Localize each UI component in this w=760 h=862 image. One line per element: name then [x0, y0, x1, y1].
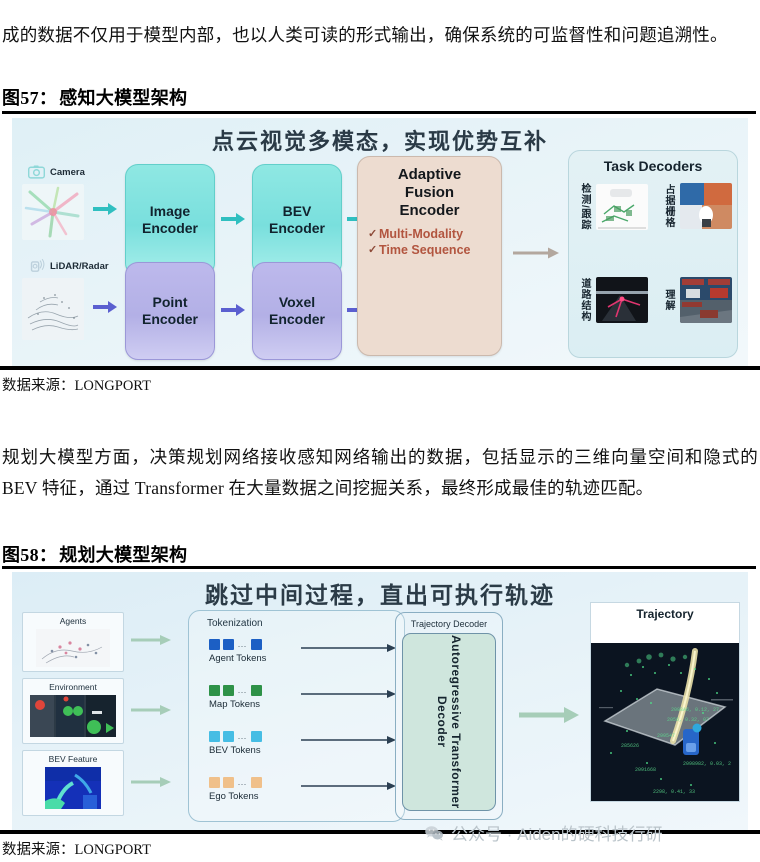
trajectory-pointcloud-image: 2098A6, 0.12, 27 2056, 0.32, 07 299547 2…	[591, 603, 739, 801]
arrow-point-to-voxel-encoder	[220, 303, 246, 317]
fusion-line2: Fusion	[358, 184, 501, 202]
arrow-fusion-to-task-decoders	[512, 246, 560, 260]
svg-text:285626: 285626	[621, 743, 639, 749]
svg-text:2298, 0.41, 33: 2298, 0.41, 33	[653, 789, 695, 795]
input-bev-feature[interactable]: BEV Feature	[22, 750, 124, 816]
arrow-bev-feature-to-tokenization	[130, 776, 172, 788]
encoder-image-line1: Image	[142, 203, 198, 220]
arrow-decoder-to-trajectory	[518, 706, 580, 724]
arrow-agents-to-tokenization	[130, 634, 172, 646]
token-chips-map: ...	[209, 685, 262, 696]
figure58-image: 跳过中间过程，直出可执行轨迹 Agents	[12, 572, 748, 830]
trajectory-decoder-panel: Trajectory Decoder Autoregressive Transf…	[395, 612, 503, 820]
token-chip	[209, 731, 220, 742]
camera-icon	[28, 164, 45, 179]
encoder-bev[interactable]: BEV Encoder	[252, 164, 342, 276]
token-ellipsis-bev: ...	[238, 732, 247, 741]
lidar-thumbnail	[22, 278, 84, 340]
token-ellipsis-map: ...	[238, 686, 247, 695]
fusion-line1: Adaptive	[358, 166, 501, 184]
camera-thumbnail	[22, 184, 84, 240]
token-row-bev[interactable]: ... BEV Tokens	[209, 731, 262, 756]
task-decoders-panel: Task Decoders 检测/跟踪	[568, 150, 738, 358]
task-decoder-thumb-road	[596, 277, 648, 323]
encoder-image-line2: Encoder	[142, 220, 198, 237]
arrow-environment-to-tokenization	[130, 704, 172, 716]
token-chip	[223, 639, 234, 650]
token-row-ego[interactable]: ... Ego Tokens	[209, 777, 262, 802]
figure57-source: 数据来源：LONGPORT	[2, 374, 758, 395]
tokenization-panel: Tokenization ... Agent Tokens ... Map T	[188, 610, 405, 822]
token-chip	[209, 685, 220, 696]
figure58-caption-text: 规划大模型架构	[59, 545, 187, 565]
fusion-bullet-multi-modality: Multi-Modality	[368, 227, 501, 243]
encoder-voxel-line1: Voxel	[269, 294, 325, 311]
token-chip	[223, 685, 234, 696]
figure58-caption: 图58：规划大模型架构	[2, 541, 758, 567]
token-chips-bev: ...	[209, 731, 262, 742]
bev-feature-thumbnail	[45, 767, 101, 814]
token-ellipsis-ego: ...	[238, 778, 247, 787]
trajectory-output-title: Trajectory	[591, 603, 739, 625]
token-chip	[251, 685, 262, 696]
intro-paragraph: 成的数据不仅用于模型内部，也以人类可读的形式输出，确保系统的可监督性和问题追溯性…	[2, 20, 758, 51]
sensor-label-lidar: LiDAR/Radar	[50, 261, 109, 272]
svg-text:299547: 299547	[657, 733, 675, 739]
task-decoder-road-structure[interactable]: 道路结构	[577, 277, 648, 323]
task-decoder-label-road: 道路结构	[577, 278, 592, 322]
trajectory-output-panel[interactable]: Trajectory	[590, 602, 740, 802]
arrow-agent-tokens-to-decoder	[301, 643, 397, 653]
encoder-image[interactable]: Image Encoder	[125, 164, 215, 276]
arrow-map-tokens-to-decoder	[301, 689, 397, 699]
trajectory-decoder-title: Trajectory Decoder	[396, 619, 502, 629]
task-decoder-occupancy-grid[interactable]: 占据栅格	[661, 183, 732, 229]
token-label-agent: Agent Tokens	[209, 653, 266, 664]
token-chips-agent: ...	[209, 639, 266, 650]
token-chip	[251, 777, 262, 788]
arrow-camera-to-image-encoder	[92, 202, 118, 216]
watermark-text: 公众号 · Aiden的硬科技行研	[451, 820, 663, 845]
fusion-line3: Encoder	[358, 202, 501, 220]
input-environment-label: Environment	[23, 682, 123, 692]
token-chip	[223, 777, 234, 788]
svg-text:2091668: 2091668	[635, 767, 656, 773]
adaptive-fusion-encoder[interactable]: Adaptive Fusion Encoder Multi-Modality T…	[357, 156, 502, 356]
task-decoder-label-detection: 检测/跟踪	[577, 183, 592, 231]
tokenization-title: Tokenization	[207, 618, 263, 629]
token-chip	[209, 639, 220, 650]
token-chip	[251, 639, 262, 650]
autoregressive-decoder-label: Autoregressive Transformer Decoder	[435, 634, 463, 810]
token-label-bev: BEV Tokens	[209, 745, 262, 756]
svg-text:2098982, 0.03, 2: 2098982, 0.03, 2	[683, 761, 731, 767]
task-decoder-thumb-occupancy	[680, 183, 732, 229]
task-decoder-label-occupancy: 占据栅格	[661, 184, 676, 228]
figure57-caption-rule	[2, 111, 756, 114]
token-label-ego: Ego Tokens	[209, 791, 262, 802]
figure57-caption-number: 图57：	[2, 88, 57, 108]
figure57-caption-text: 感知大模型架构	[59, 88, 187, 108]
svg-text:2098A6, 0.12, 27: 2098A6, 0.12, 27	[671, 707, 719, 713]
input-environment[interactable]: Environment	[22, 678, 124, 744]
agents-thumbnail	[36, 629, 110, 672]
task-decoder-thumb-understanding	[680, 277, 732, 323]
encoder-point-line1: Point	[142, 294, 198, 311]
task-decoder-thumb-detection	[596, 184, 648, 230]
figure57-image: 点云视觉多模态，实现优势互补 Camera	[12, 118, 748, 366]
arrow-image-to-bev-encoder	[220, 212, 246, 226]
figure57-caption: 图57：感知大模型架构	[2, 84, 758, 110]
environment-thumbnail	[30, 695, 116, 742]
input-bev-feature-label: BEV Feature	[23, 754, 123, 764]
token-row-agent[interactable]: ... Agent Tokens	[209, 639, 266, 664]
token-chip	[251, 731, 262, 742]
arrow-bev-tokens-to-decoder	[301, 735, 397, 745]
input-agents-label: Agents	[23, 616, 123, 626]
arrow-ego-tokens-to-decoder	[301, 781, 397, 791]
task-decoder-detection-tracking[interactable]: 检测/跟踪	[577, 183, 648, 231]
figure58-caption-rule	[2, 566, 756, 569]
token-row-map[interactable]: ... Map Tokens	[209, 685, 262, 710]
token-ellipsis-agent: ...	[238, 640, 247, 649]
wechat-icon	[424, 825, 444, 841]
input-agents[interactable]: Agents	[22, 612, 124, 672]
sensor-label-camera: Camera	[50, 167, 85, 178]
task-decoders-title: Task Decoders	[569, 158, 737, 174]
token-chip	[209, 777, 220, 788]
token-label-map: Map Tokens	[209, 699, 262, 710]
encoder-bev-line1: BEV	[269, 203, 325, 220]
encoder-point[interactable]: Point Encoder	[125, 262, 215, 360]
figure57-bottom-rule	[0, 366, 760, 370]
task-decoder-label-understanding: 理解	[661, 289, 676, 311]
token-chip	[223, 731, 234, 742]
autoregressive-transformer-decoder[interactable]: Autoregressive Transformer Decoder	[402, 633, 496, 811]
token-chips-ego: ...	[209, 777, 262, 788]
mid-paragraph: 规划大模型方面，决策规划网络接收感知网络输出的数据，包括显示的三维向量空间和隐式…	[2, 442, 758, 504]
lidar-radar-icon	[28, 258, 45, 273]
figure58-caption-number: 图58：	[2, 545, 57, 565]
watermark: 公众号 · Aiden的硬科技行研	[424, 820, 663, 845]
encoder-point-line2: Encoder	[142, 311, 198, 328]
arrow-lidar-to-point-encoder	[92, 300, 118, 314]
document-page: 成的数据不仅用于模型内部，也以人类可读的形式输出，确保系统的可监督性和问题追溯性…	[0, 0, 760, 862]
encoder-bev-line2: Encoder	[269, 220, 325, 237]
svg-text:2056, 0.32, 07: 2056, 0.32, 07	[667, 717, 709, 723]
encoder-voxel[interactable]: Voxel Encoder	[252, 262, 342, 360]
encoder-voxel-line2: Encoder	[269, 311, 325, 328]
task-decoder-understanding[interactable]: 理解	[661, 277, 732, 323]
fusion-bullet-time-sequence: Time Sequence	[368, 243, 501, 259]
